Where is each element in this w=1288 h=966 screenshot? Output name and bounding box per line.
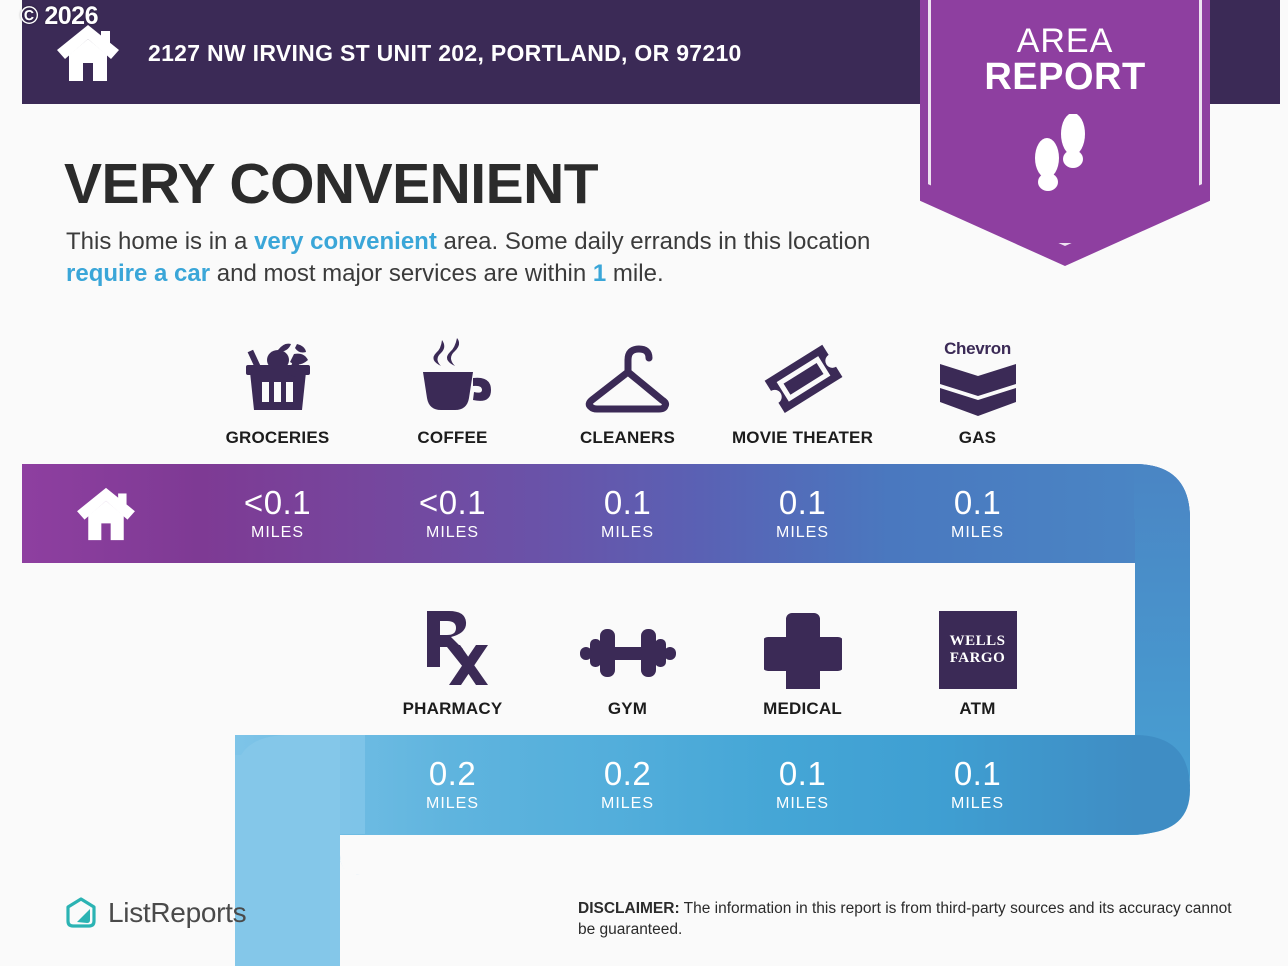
summary-text: This home is in a very convenient area. … <box>66 226 926 289</box>
house-icon <box>55 23 121 83</box>
disclaimer: DISCLAIMER: The information in this repo… <box>578 899 1238 940</box>
distance-unit: MILES <box>776 524 829 542</box>
copyright-watermark: © 2026 <box>20 2 98 31</box>
distance-cell-groceries: <0.1 MILES <box>190 464 365 563</box>
amenity-pharmacy: PHARMACY <box>365 607 540 719</box>
summary-highlight3: 1 <box>593 260 606 287</box>
distance-cell-medical: 0.1 MILES <box>715 735 890 834</box>
amenity-row-2: PHARMACY GYM <box>365 607 1065 719</box>
distance-value: <0.1 <box>419 486 486 519</box>
property-address: 2127 NW IRVING ST UNIT 202, PORTLAND, OR… <box>148 40 742 67</box>
distance-value: <0.1 <box>244 486 311 519</box>
summary-part3: and most major services are within <box>210 260 593 287</box>
distance-unit: MILES <box>601 524 654 542</box>
distance-value: 0.2 <box>429 757 476 790</box>
wells-fargo-line2: FARGO <box>950 650 1006 667</box>
amenity-gym: GYM <box>540 607 715 719</box>
distance-unit: MILES <box>251 524 304 542</box>
amenity-label: COFFEE <box>417 428 487 448</box>
wells-fargo-line1: WELLS <box>950 633 1006 650</box>
distance-unit: MILES <box>951 795 1004 813</box>
distance-value: 0.1 <box>779 486 826 519</box>
badge-title: AREA REPORT <box>920 24 1210 96</box>
rx-icon <box>413 607 493 689</box>
house-icon <box>75 486 137 542</box>
distance-unit: MILES <box>601 795 654 813</box>
area-report-page: © 2026 2127 NW IRVING ST UNIT 202, PORTL… <box>0 0 1288 966</box>
amenity-label: GYM <box>608 699 647 719</box>
badge-title-line1: AREA <box>920 24 1210 58</box>
distance-cell-movie-theater: 0.1 MILES <box>715 464 890 563</box>
chevron-gas-icon: Chevron <box>938 336 1018 418</box>
movie-ticket-icon <box>755 336 851 418</box>
summary-highlight1: very convenient <box>254 228 437 255</box>
page-title: VERY CONVENIENT <box>64 151 598 217</box>
disclaimer-label: DISCLAIMER: <box>578 900 680 917</box>
amenity-row-1: GROCERIES COFFEE <box>190 336 1065 448</box>
footprints-icon <box>1025 114 1105 200</box>
distance-unit: MILES <box>426 524 479 542</box>
grocery-basket-icon <box>236 336 320 418</box>
distance-cell-gas: 0.1 MILES <box>890 464 1065 563</box>
distance-value: 0.1 <box>779 757 826 790</box>
coffee-cup-icon <box>411 336 495 418</box>
listreports-logo: ListReports <box>64 896 246 930</box>
summary-highlight2: require a car <box>66 260 210 287</box>
distance-value: 0.1 <box>604 486 651 519</box>
summary-part4: mile. <box>606 260 663 287</box>
amenity-cleaners: CLEANERS <box>540 336 715 448</box>
amenity-label: GROCERIES <box>226 428 330 448</box>
medical-cross-icon <box>764 607 842 689</box>
distance-row-2: 0.2 MILES 0.2 MILES 0.1 MILES 0.1 MILES <box>365 735 1065 834</box>
distance-value: 0.2 <box>604 757 651 790</box>
distance-value: 0.1 <box>954 486 1001 519</box>
amenity-label: PHARMACY <box>403 699 503 719</box>
amenity-label: GAS <box>959 428 996 448</box>
distance-cell-pharmacy: 0.2 MILES <box>365 735 540 834</box>
distance-unit: MILES <box>951 524 1004 542</box>
amenity-medical: MEDICAL <box>715 607 890 719</box>
summary-part1: This home is in a <box>66 228 254 255</box>
distance-cell-cleaners: 0.1 MILES <box>540 464 715 563</box>
wells-fargo-icon: WELLS FARGO <box>939 607 1017 689</box>
distance-cell-gym: 0.2 MILES <box>540 735 715 834</box>
amenity-label: MEDICAL <box>763 699 842 719</box>
chevron-brand-text: Chevron <box>944 339 1011 359</box>
amenity-label: MOVIE THEATER <box>732 428 873 448</box>
amenity-atm: WELLS FARGO ATM <box>890 607 1065 719</box>
dumbbell-icon <box>578 607 678 689</box>
amenity-label: CLEANERS <box>580 428 675 448</box>
distance-unit: MILES <box>776 795 829 813</box>
distance-unit: MILES <box>426 795 479 813</box>
area-report-badge: AREA REPORT <box>920 0 1210 266</box>
amenity-coffee: COFFEE <box>365 336 540 448</box>
amenity-movie-theater: MOVIE THEATER <box>715 336 890 448</box>
distance-value: 0.1 <box>954 757 1001 790</box>
header-edge <box>1280 0 1288 104</box>
distance-row-1: <0.1 MILES <0.1 MILES 0.1 MILES 0.1 MILE… <box>190 464 1065 563</box>
home-origin-cell <box>22 464 190 563</box>
distance-cell-coffee: <0.1 MILES <box>365 464 540 563</box>
hanger-icon <box>580 336 676 418</box>
amenity-label: ATM <box>959 699 995 719</box>
distance-cell-atm: 0.1 MILES <box>890 735 1065 834</box>
listreports-house-icon <box>64 896 98 930</box>
amenity-gas: Chevron GAS <box>890 336 1065 448</box>
listreports-logo-text: ListReports <box>108 897 246 929</box>
badge-title-line2: REPORT <box>920 58 1210 96</box>
summary-part2: area. Some daily errands in this locatio… <box>437 228 871 255</box>
amenity-groceries: GROCERIES <box>190 336 365 448</box>
